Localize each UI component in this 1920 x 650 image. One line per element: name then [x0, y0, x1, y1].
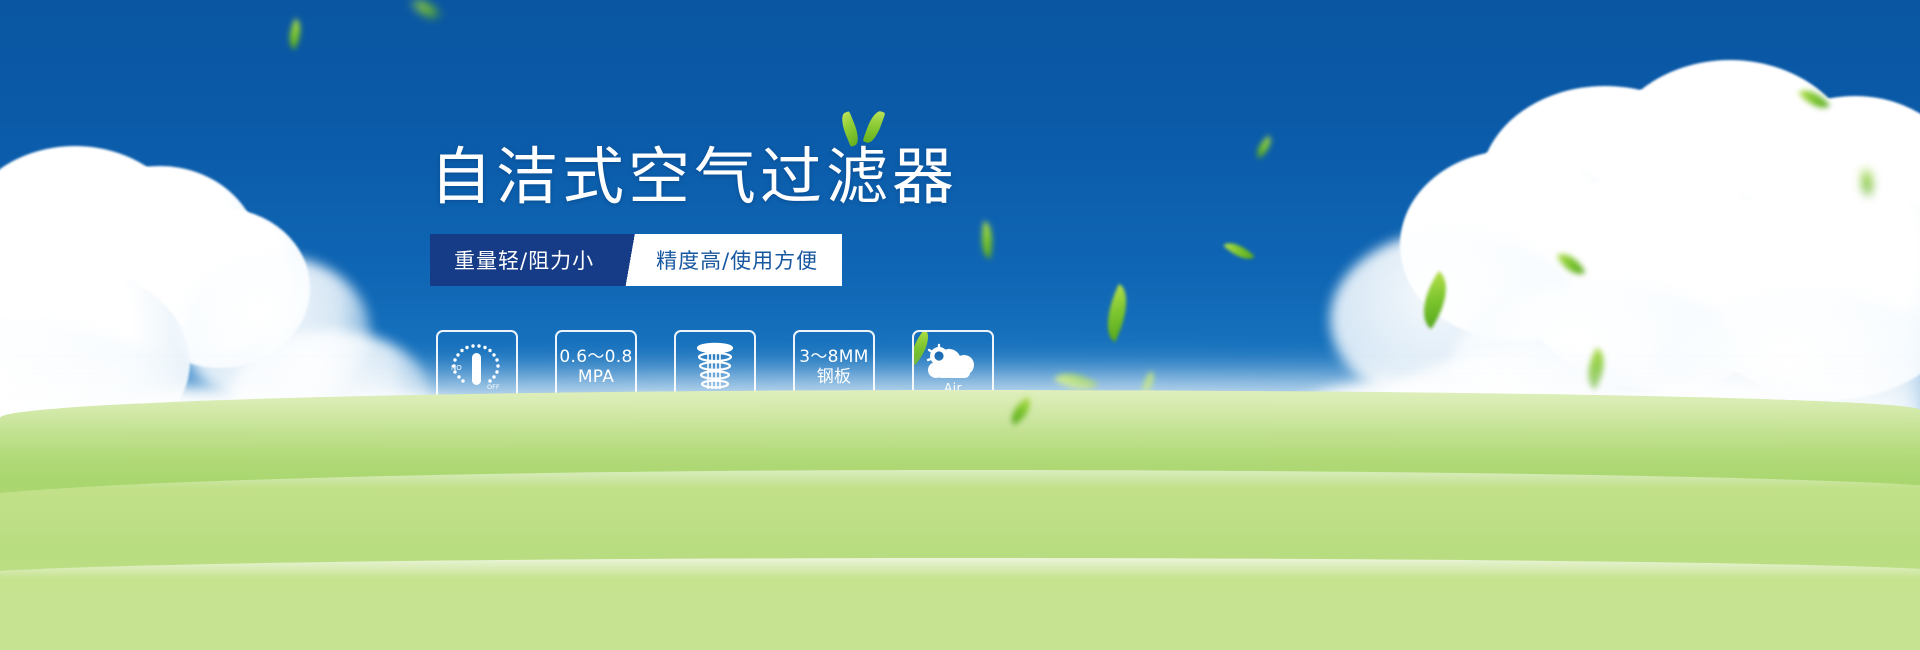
tab-high-precision-easy-use[interactable]: 精度高/使用方便 — [646, 234, 842, 286]
tab-separator — [616, 234, 646, 286]
grass-field-front — [0, 558, 1920, 650]
tab-lightweight-low-resistance[interactable]: 重量轻/阻力小 — [430, 234, 616, 286]
tab-group: 重量轻/阻力小 精度高/使用方便 — [430, 234, 842, 286]
page-title: 自洁式空气过滤器 — [430, 126, 958, 216]
banner-stage: 自洁式空气过滤器 重量轻/阻力小 精度高/使用方便 — [0, 0, 1920, 650]
